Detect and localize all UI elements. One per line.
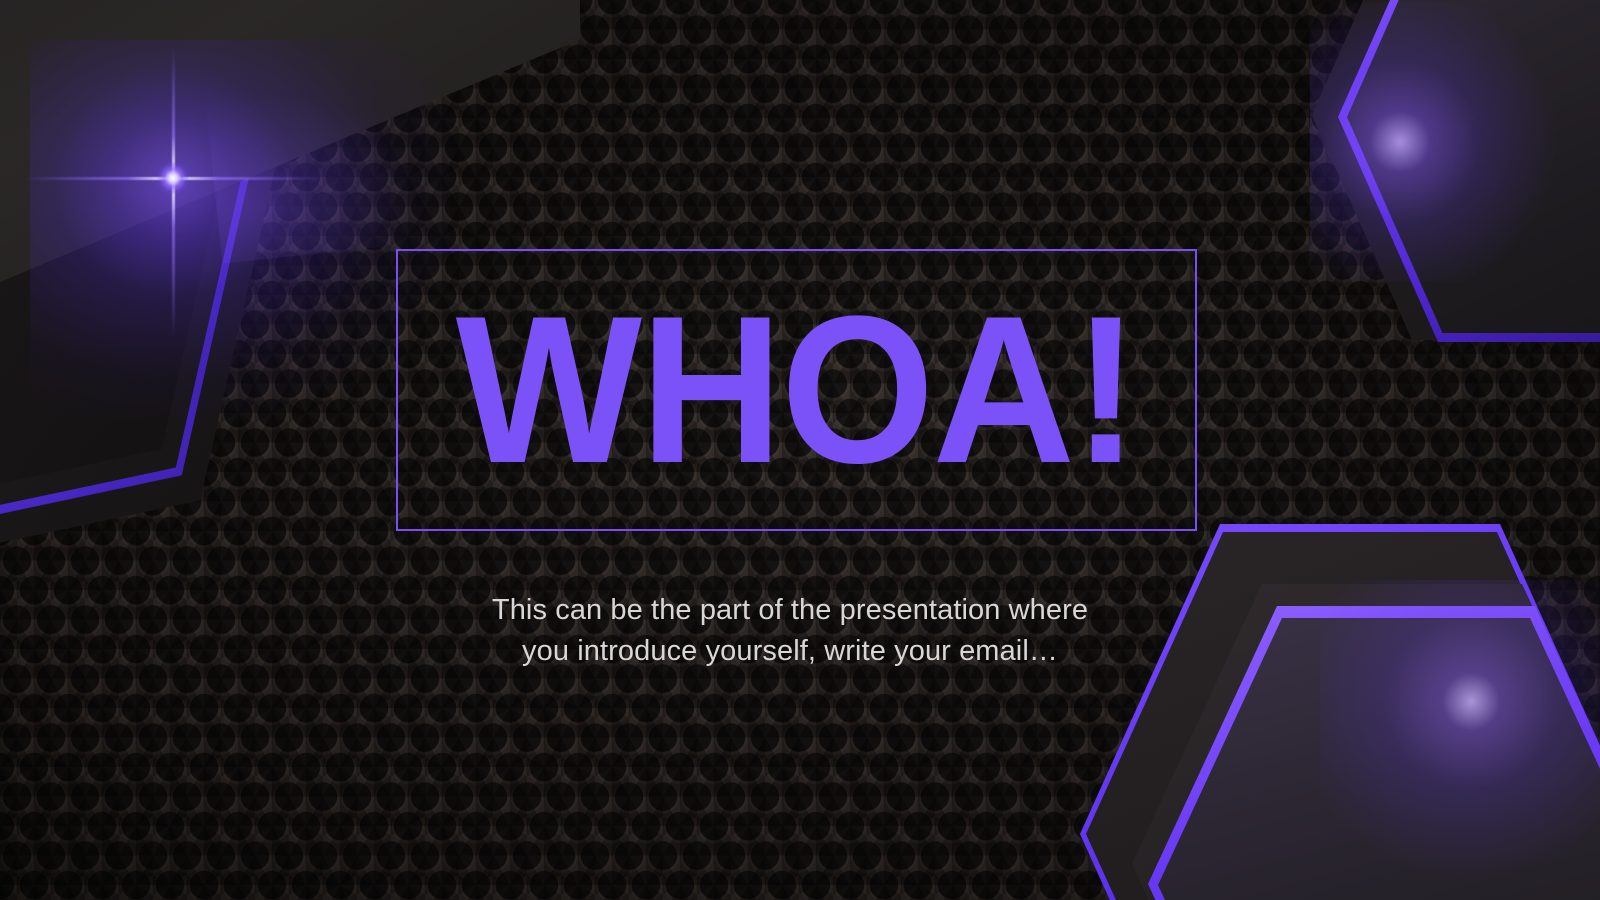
title-frame: WHOA! [396, 249, 1197, 531]
subtitle-line-2: you introduce yourself, write your email… [380, 631, 1200, 672]
subtitle-line-1: This can be the part of the presentation… [380, 590, 1200, 631]
presentation-slide: WHOA! This can be the part of the presen… [0, 0, 1600, 900]
subtitle-text: This can be the part of the presentation… [380, 590, 1200, 672]
top-right-hexagon-decoration [1320, 0, 1600, 352]
page-title: WHOA! [456, 304, 1137, 476]
hexagon-face [1347, 0, 1600, 333]
bottom-right-hexagon-decoration [1190, 510, 1600, 900]
